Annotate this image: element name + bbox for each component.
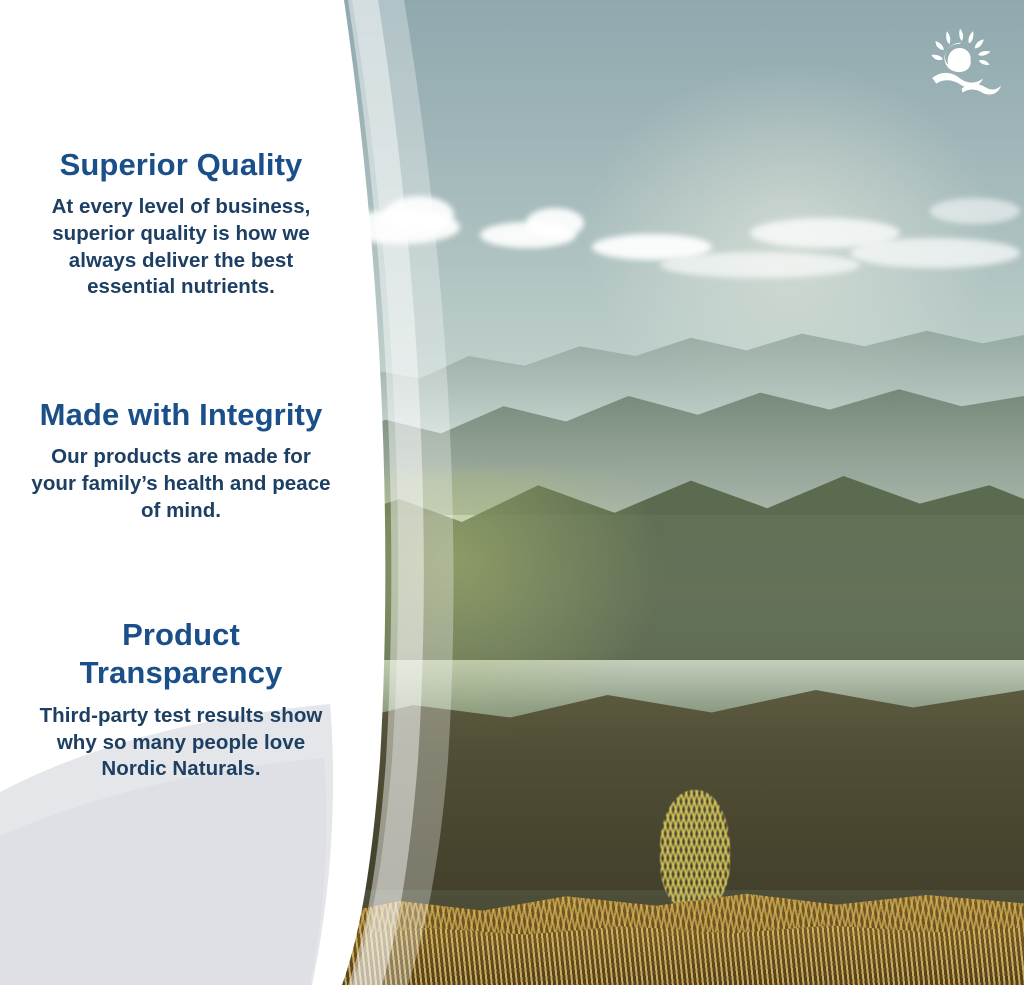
family-photo: [330, 0, 1024, 985]
value-heading: Superior Quality: [26, 146, 336, 184]
value-props-panel: Superior Quality At every level of busin…: [0, 0, 362, 985]
value-body: Our products are made for your family’s …: [26, 444, 336, 524]
value-body: At every level of business, superior qua…: [26, 194, 336, 301]
promo-graphic: Superior Quality At every level of busin…: [0, 0, 1024, 985]
value-body: Third-party test results show why so man…: [26, 703, 336, 783]
value-block-made-with-integrity: Made with Integrity Our products are mad…: [0, 396, 362, 524]
sun-waves-logo-icon: [924, 18, 1006, 100]
value-heading: Product Transparency: [26, 616, 336, 693]
value-heading: Made with Integrity: [26, 396, 336, 434]
value-block-product-transparency: Product Transparency Third-party test re…: [0, 616, 362, 783]
golden-shrub: [660, 790, 730, 910]
value-block-superior-quality: Superior Quality At every level of busin…: [0, 146, 362, 301]
